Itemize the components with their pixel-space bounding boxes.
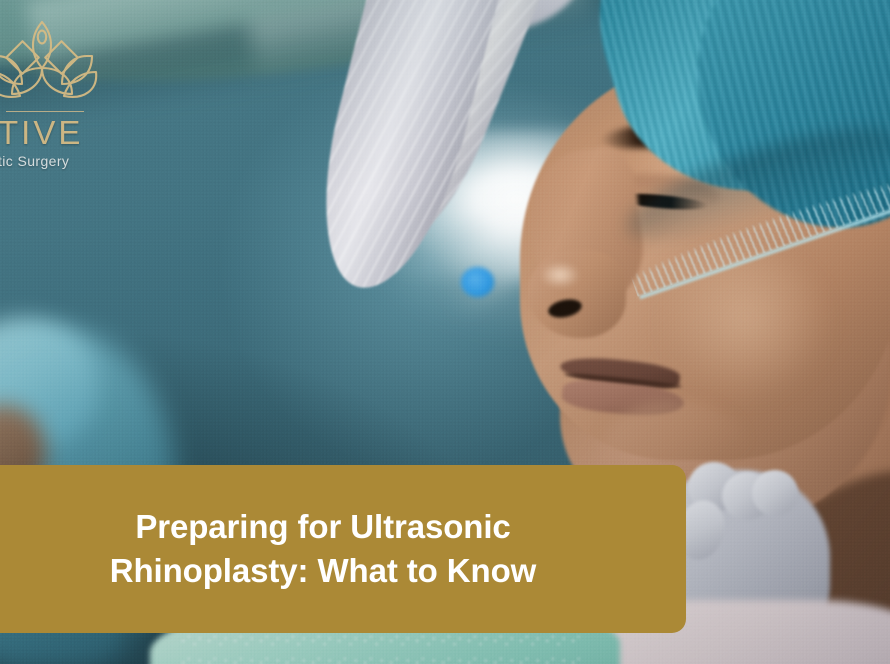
nose-highlight: [540, 262, 580, 288]
featured-image-canvas: TIVE tic Surgery Preparing for Ultrasoni…: [0, 0, 890, 664]
logo-tagline: tic Surgery: [0, 153, 168, 169]
lotus-flower-icon: [0, 10, 142, 110]
logo-divider-rule: [6, 111, 84, 112]
gloved-fingertip: [752, 470, 798, 516]
bokeh-dot: [461, 267, 494, 297]
brand-logo: TIVE tic Surgery: [0, 10, 142, 170]
title-line-2: Rhinoplasty: What to Know: [110, 549, 536, 593]
logo-wordmark: TIVE: [0, 114, 148, 152]
title-banner: Preparing for Ultrasonic Rhinoplasty: Wh…: [0, 465, 686, 633]
title-line-1: Preparing for Ultrasonic: [135, 505, 510, 549]
patient-nose-tip: [528, 250, 626, 338]
